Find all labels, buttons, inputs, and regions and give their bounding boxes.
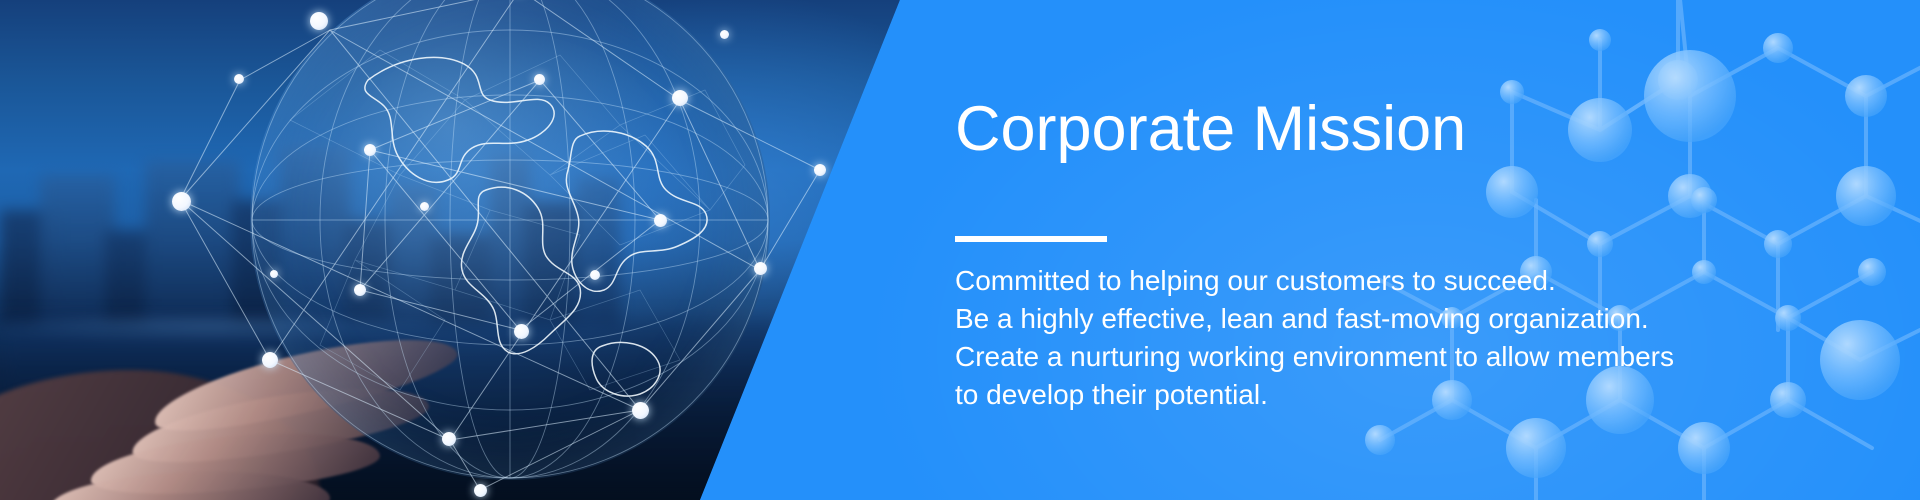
mission-line-4: to develop their potential.: [955, 376, 1674, 414]
mission-line-3: Create a nurturing working environment t…: [955, 338, 1674, 376]
mission-line-2: Be a highly effective, lean and fast-mov…: [955, 300, 1674, 338]
title-divider: [955, 236, 1107, 242]
mission-statement: Committed to helping our customers to su…: [955, 262, 1674, 414]
molecule-lattice-pattern: [1360, 0, 1920, 500]
page-title: Corporate Mission: [955, 98, 1466, 161]
corporate-mission-banner: Corporate Mission Committed to helping o…: [0, 0, 1920, 500]
mission-line-1: Committed to helping our customers to su…: [955, 262, 1674, 300]
